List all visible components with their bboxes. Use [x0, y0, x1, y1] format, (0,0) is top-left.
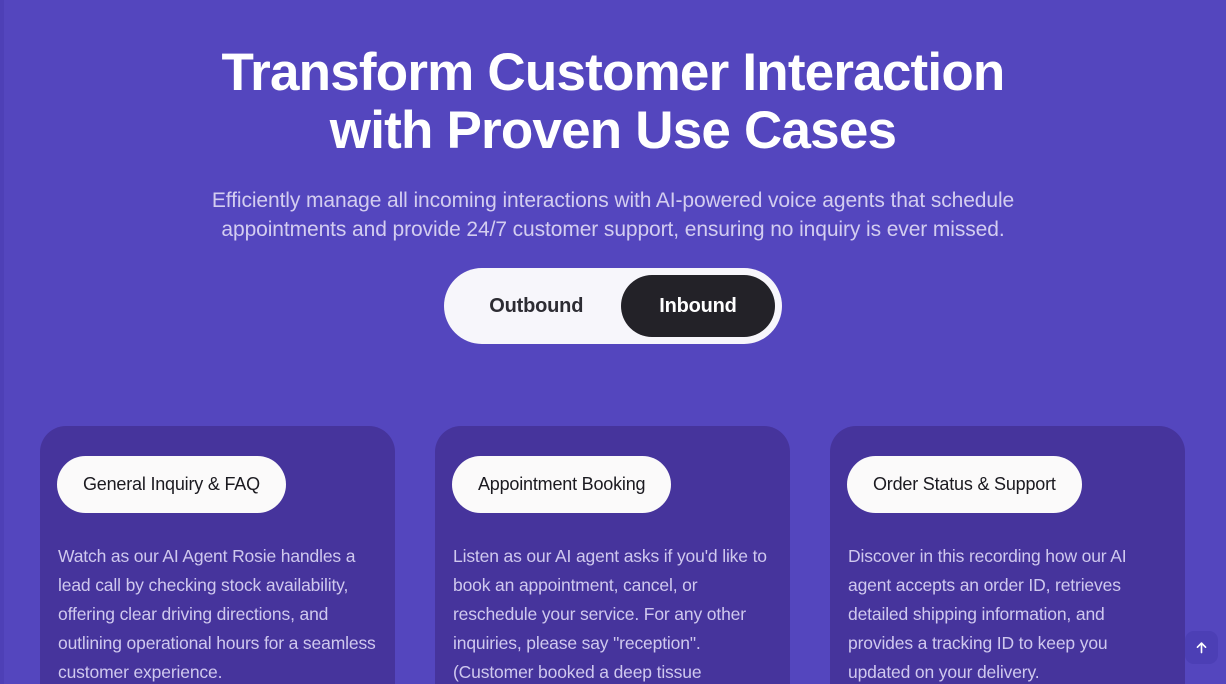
- use-case-card-title[interactable]: Order Status & Support: [847, 456, 1082, 513]
- page-subtitle-line-2: appointments and provide 24/7 customer s…: [0, 215, 1226, 244]
- arrow-up-icon: [1194, 640, 1209, 655]
- scroll-to-top-button[interactable]: [1185, 631, 1218, 664]
- toggle-option-outbound[interactable]: Outbound: [451, 275, 621, 337]
- use-case-card[interactable]: Appointment Booking Listen as our AI age…: [435, 426, 790, 684]
- page-subtitle-line-1: Efficiently manage all incoming interact…: [0, 186, 1226, 215]
- use-case-card[interactable]: General Inquiry & FAQ Watch as our AI Ag…: [40, 426, 395, 684]
- page-title-line-2: with Proven Use Cases: [0, 102, 1226, 160]
- hero-section: Transform Customer Interaction with Prov…: [0, 0, 1226, 344]
- call-direction-toggle-wrapper: Outbound Inbound: [0, 268, 1226, 344]
- use-case-card-description: Watch as our AI Agent Rosie handles a le…: [57, 542, 378, 684]
- use-case-card-title[interactable]: General Inquiry & FAQ: [57, 456, 286, 513]
- page-subtitle: Efficiently manage all incoming interact…: [0, 186, 1226, 244]
- page-title: Transform Customer Interaction with Prov…: [0, 44, 1226, 160]
- toggle-option-inbound[interactable]: Inbound: [621, 275, 774, 337]
- page-title-line-1: Transform Customer Interaction: [0, 44, 1226, 102]
- use-case-card-title[interactable]: Appointment Booking: [452, 456, 671, 513]
- use-case-card[interactable]: Order Status & Support Discover in this …: [830, 426, 1185, 684]
- use-case-card-description: Discover in this recording how our AI ag…: [847, 542, 1168, 684]
- left-edge-bleed: [0, 0, 4, 684]
- call-direction-toggle[interactable]: Outbound Inbound: [444, 268, 781, 344]
- use-case-card-grid: General Inquiry & FAQ Watch as our AI Ag…: [40, 426, 1186, 684]
- use-case-card-description: Listen as our AI agent asks if you'd lik…: [452, 542, 773, 684]
- use-cases-page: Transform Customer Interaction with Prov…: [0, 0, 1226, 684]
